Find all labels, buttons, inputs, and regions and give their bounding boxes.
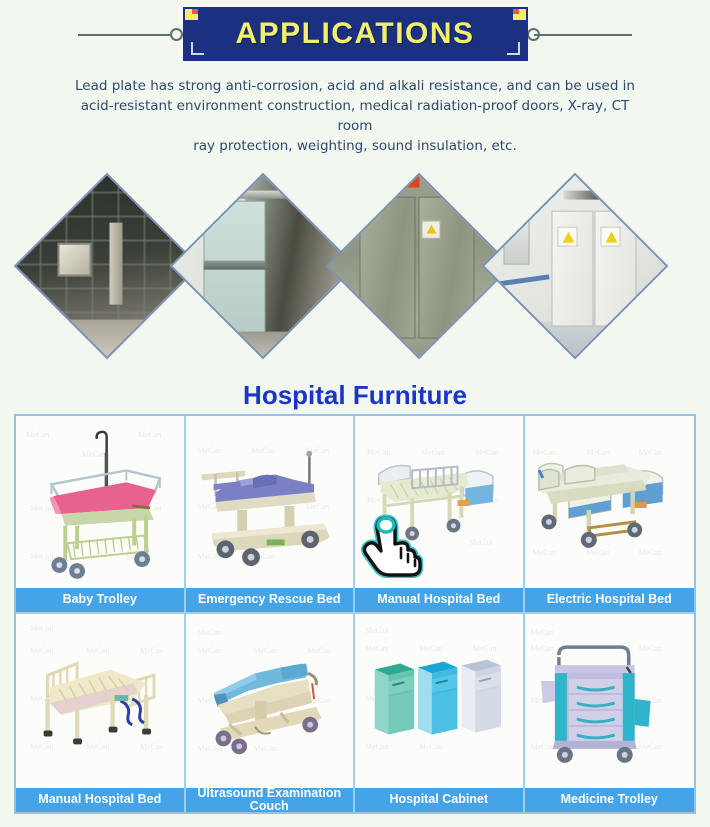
product-cell-electric-hospital-bed[interactable]: MeCan MeCan MeCan MeCan MeCan MeCan xyxy=(525,416,695,614)
header-line-left xyxy=(78,34,176,36)
product-cell-hospital-cabinet[interactable]: MeCan MeCan MeCan MeCan MeCan MeCan MeCa… xyxy=(355,614,525,812)
section-title-hospital-furniture: Hospital Furniture xyxy=(0,380,710,411)
banner-corner-square-top-right xyxy=(513,9,526,20)
product-label: Baby Trolley xyxy=(16,588,184,612)
product-cell-manual-hospital-bed-cream[interactable]: MeCan MeCan MeCan MeCan MeCan MeCan MeCa… xyxy=(16,614,186,812)
header-circle-left xyxy=(170,28,183,41)
hospital-cabinet-illustration xyxy=(355,614,523,788)
diamond-photo-hospital-ct-room-doors xyxy=(482,173,669,360)
product-image-manual-hospital-bed-blue: MeCan MeCan MeCan MeCan MeCan MeCan MeCa… xyxy=(355,416,523,588)
baby-trolley-illustration xyxy=(16,416,184,588)
electric-hospital-bed-illustration xyxy=(525,416,695,588)
hospital-furniture-grid: MeCan MeCan MeCan MeCan MeCan MeCan MeCa… xyxy=(14,414,696,814)
product-cell-medicine-trolley[interactable]: MeCan MeCan MeCan MeCan MeCan MeCan MeCa… xyxy=(525,614,695,812)
product-cell-ultrasound-examination-couch[interactable]: MeCan MeCan MeCan MeCan MeCan MeCan MeCa… xyxy=(186,614,356,812)
description-line-3: ray protection, weighting, sound insulat… xyxy=(75,136,635,156)
product-label: Ultrasound Examination Couch xyxy=(186,788,354,812)
description-block: Lead plate has strong anti-corrosion, ac… xyxy=(75,76,635,156)
product-label: Emergency Rescue Bed xyxy=(186,588,354,612)
banner-corner-bracket-bottom-left xyxy=(191,42,204,55)
product-label: Medicine Trolley xyxy=(525,788,695,812)
product-image-baby-trolley: MeCan MeCan MeCan MeCan MeCan MeCan MeCa… xyxy=(16,416,184,588)
product-image-electric-hospital-bed: MeCan MeCan MeCan MeCan MeCan MeCan xyxy=(525,416,695,588)
applications-header: APPLICATIONS xyxy=(0,0,710,68)
product-image-ultrasound-examination-couch: MeCan MeCan MeCan MeCan MeCan MeCan MeCa… xyxy=(186,614,354,788)
product-cell-emergency-rescue-bed[interactable]: MeCan MeCan MeCan MeCan MeCan MeCan MeCa… xyxy=(186,416,356,614)
applications-banner: APPLICATIONS xyxy=(183,7,528,61)
description-line-1: Lead plate has strong anti-corrosion, ac… xyxy=(75,76,635,96)
page-title: APPLICATIONS xyxy=(235,17,474,51)
banner-corner-square-top-left xyxy=(185,9,198,20)
product-cell-baby-trolley[interactable]: MeCan MeCan MeCan MeCan MeCan MeCan MeCa… xyxy=(16,416,186,614)
emergency-rescue-bed-illustration xyxy=(186,416,354,588)
product-label: Electric Hospital Bed xyxy=(525,588,695,612)
product-label: Manual Hospital Bed xyxy=(355,588,523,612)
product-image-hospital-cabinet: MeCan MeCan MeCan MeCan MeCan MeCan MeCa… xyxy=(355,614,523,788)
application-photo-row xyxy=(0,166,710,366)
header-line-right xyxy=(534,34,632,36)
banner-corner-bracket-bottom-right xyxy=(507,42,520,55)
product-image-medicine-trolley: MeCan MeCan MeCan MeCan MeCan MeCan MeCa… xyxy=(525,614,695,788)
description-line-2: acid-resistant environment construction,… xyxy=(75,96,635,136)
product-label: Manual Hospital Bed xyxy=(16,788,184,812)
product-image-emergency-rescue-bed: MeCan MeCan MeCan MeCan MeCan MeCan MeCa… xyxy=(186,416,354,588)
medicine-trolley-illustration xyxy=(525,614,695,788)
pointing-hand-cursor xyxy=(361,512,423,578)
ultrasound-examination-couch-illustration xyxy=(186,614,354,788)
product-image-manual-hospital-bed-cream: MeCan MeCan MeCan MeCan MeCan MeCan MeCa… xyxy=(16,614,184,788)
manual-hospital-bed-cream-illustration xyxy=(16,614,184,788)
product-label: Hospital Cabinet xyxy=(355,788,523,812)
product-cell-manual-hospital-bed-blue[interactable]: MeCan MeCan MeCan MeCan MeCan MeCan MeCa… xyxy=(355,416,525,614)
